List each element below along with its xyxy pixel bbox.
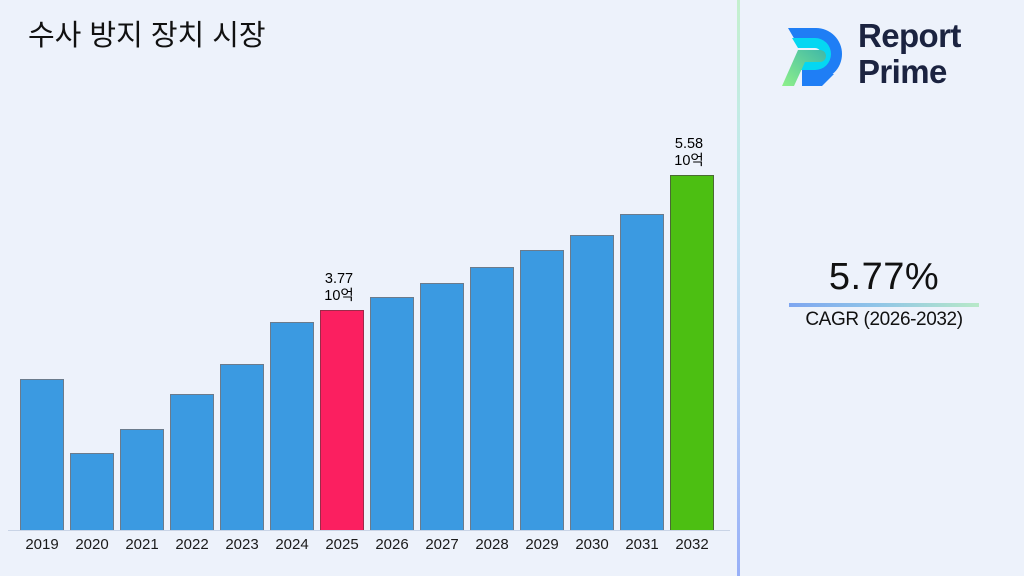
x-tick-2031: 2031: [617, 536, 667, 553]
rp-monogram-icon: [772, 20, 850, 94]
logo-wordmark: Report Prime: [858, 18, 961, 90]
x-tick-2030: 2030: [567, 536, 617, 553]
bar-2028[interactable]: [470, 267, 514, 530]
bar-slot-2023: [217, 46, 267, 530]
bar-2023[interactable]: [220, 364, 264, 530]
x-tick-2021: 2021: [117, 536, 167, 553]
bar-slot-2028: [467, 46, 517, 530]
bar-slot-2021: [117, 46, 167, 530]
bar-value-number-2032: 5.58: [657, 136, 721, 153]
bar-slot-2026: [367, 46, 417, 530]
x-tick-2032: 2032: [667, 536, 717, 553]
x-tick-2029: 2029: [517, 536, 567, 553]
x-tick-2024: 2024: [267, 536, 317, 553]
x-tick-2022: 2022: [167, 536, 217, 553]
bar-2021[interactable]: [120, 429, 164, 530]
bar-slot-2029: [517, 46, 567, 530]
cagr-value: 5.77%: [750, 255, 1018, 299]
x-tick-2019: 2019: [17, 536, 67, 553]
x-tick-2025: 2025: [317, 536, 367, 553]
bar-slot-2030: [567, 46, 617, 530]
logo-line-1: Report: [858, 17, 961, 54]
cagr-block: 5.77% CAGR (2026-2032): [750, 255, 1018, 331]
bar-slot-2027: [417, 46, 467, 530]
x-tick-2023: 2023: [217, 536, 267, 553]
bar-2020[interactable]: [70, 453, 114, 530]
bar-value-unit-2032: 10억: [657, 153, 721, 170]
bar-2019[interactable]: [20, 379, 64, 530]
bar-2030[interactable]: [570, 235, 614, 530]
bar-slot-2020: [67, 46, 117, 530]
right-panel: Report Prime 5.77% CAGR (2026-2032): [740, 0, 1024, 576]
bar-2026[interactable]: [370, 297, 414, 530]
chart-screenshot: 수사 방지 장치 시장 3.7710억5.5810억 2019202020212…: [0, 0, 1024, 576]
bar-value-number-2025: 3.77: [307, 271, 371, 288]
x-axis-line: [8, 530, 730, 531]
chart-panel: 수사 방지 장치 시장 3.7710억5.5810억 2019202020212…: [0, 0, 738, 576]
bar-value-unit-2025: 10억: [307, 288, 371, 305]
bar-2029[interactable]: [520, 250, 564, 530]
bar-slot-2025: 3.7710억: [317, 46, 367, 530]
bar-slot-2031: [617, 46, 667, 530]
x-tick-2020: 2020: [67, 536, 117, 553]
bar-slot-2022: [167, 46, 217, 530]
x-tick-2026: 2026: [367, 536, 417, 553]
bar-2022[interactable]: [170, 394, 214, 530]
cagr-label: CAGR (2026-2032): [750, 309, 1018, 331]
cagr-divider: [789, 303, 979, 307]
x-tick-2028: 2028: [467, 536, 517, 553]
bar-slot-2019: [17, 46, 67, 530]
bar-2024[interactable]: [270, 322, 314, 530]
bar-2032[interactable]: [670, 175, 714, 530]
bar-2027[interactable]: [420, 283, 464, 530]
bar-value-label-2032: 5.5810억: [657, 136, 721, 169]
bar-value-label-2025: 3.7710억: [307, 271, 371, 304]
bar-2025[interactable]: [320, 310, 364, 530]
report-prime-logo: Report Prime: [772, 12, 1024, 100]
bar-slot-2032: 5.5810억: [667, 46, 717, 530]
logo-line-2: Prime: [858, 54, 961, 90]
bar-2031[interactable]: [620, 214, 664, 530]
x-tick-2027: 2027: [417, 536, 467, 553]
